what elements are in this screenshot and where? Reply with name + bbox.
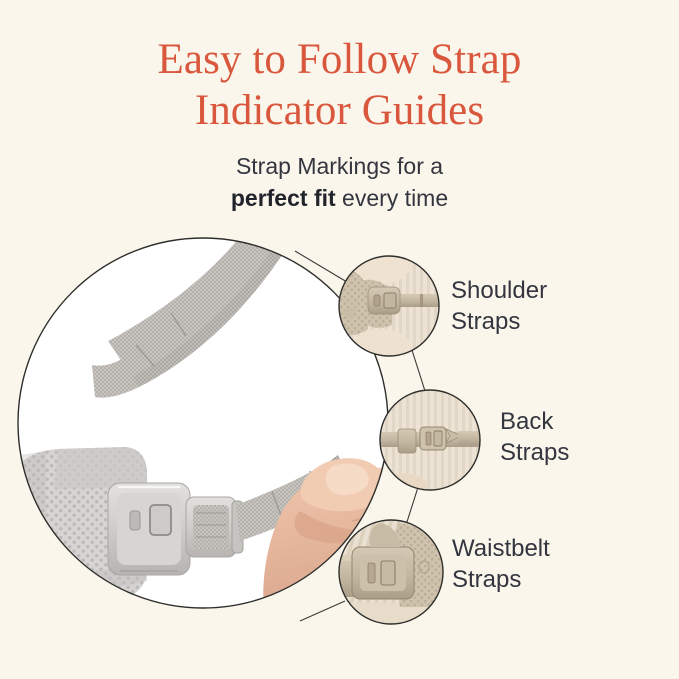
page-title: Easy to Follow Strap Indicator Guides xyxy=(0,34,679,136)
page-subtitle: Strap Markings for a perfect fit every t… xyxy=(0,150,679,214)
page-title-line-1: Easy to Follow Strap xyxy=(0,34,679,85)
callout-circle-waistbelt-straps[interactable] xyxy=(339,520,443,624)
callout-photo-back xyxy=(376,390,480,501)
callout-circle-back-straps[interactable] xyxy=(376,390,480,501)
connector-line-shoulder-to-back xyxy=(411,347,425,391)
connector-line-waistbelt xyxy=(300,601,345,621)
page-subtitle-line-1: Strap Markings for a xyxy=(0,150,679,182)
page-title-line-2: Indicator Guides xyxy=(0,85,679,136)
page-subtitle-emphasis: perfect fit xyxy=(231,185,336,211)
page-subtitle-line-2: perfect fit every time xyxy=(0,182,679,214)
product-illustration xyxy=(0,225,679,645)
page-subtitle-line-2-rest: every time xyxy=(336,185,448,211)
infographic-canvas: Easy to Follow Strap Indicator Guides St… xyxy=(0,0,679,679)
